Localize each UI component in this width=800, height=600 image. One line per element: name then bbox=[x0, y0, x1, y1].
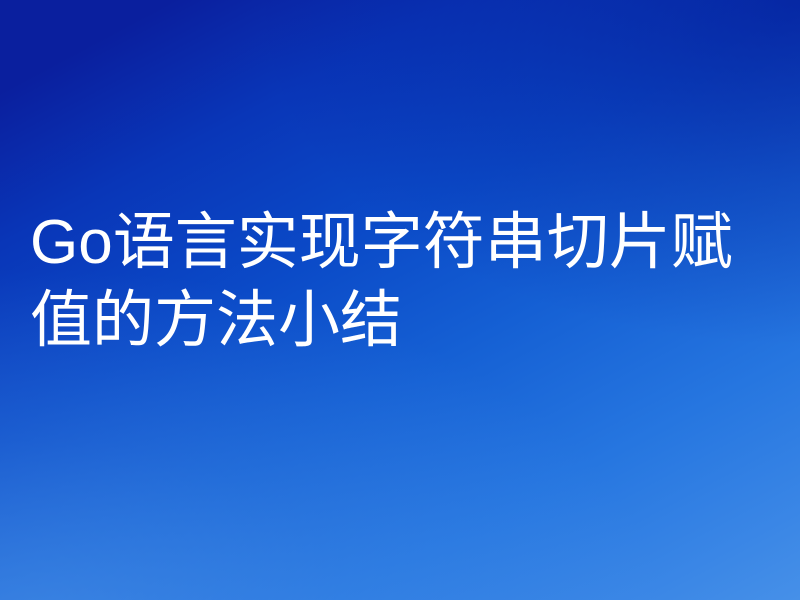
cover-card: Go语言实现字符串切片赋值的方法小结 bbox=[0, 0, 800, 600]
cover-title: Go语言实现字符串切片赋值的方法小结 bbox=[30, 204, 786, 360]
title-block: Go语言实现字符串切片赋值的方法小结 bbox=[30, 204, 786, 360]
